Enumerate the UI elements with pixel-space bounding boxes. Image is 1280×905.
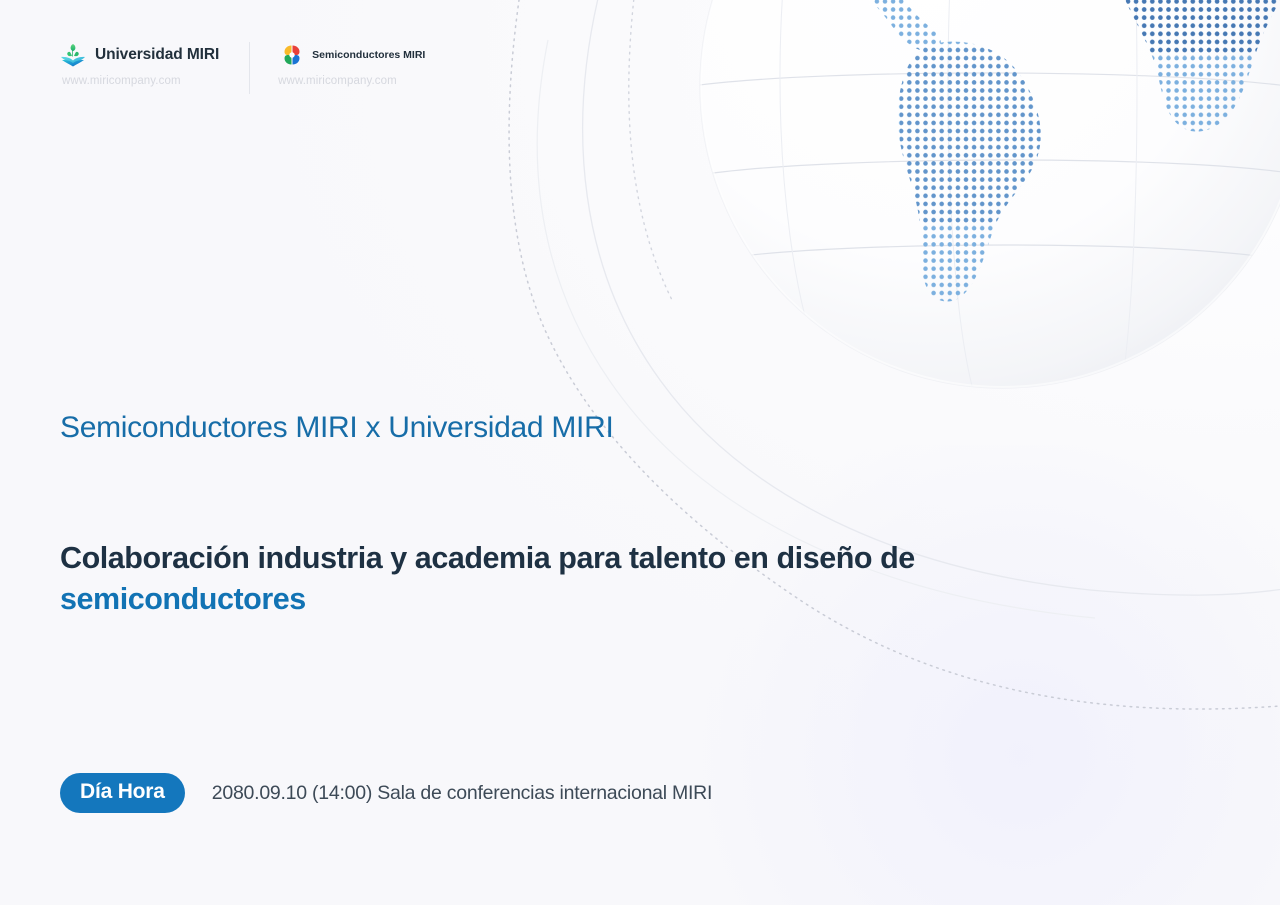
semiconductor-pinwheel-logo-icon [281,44,303,66]
university-sprout-logo-icon [60,43,86,67]
background-wash [640,445,1280,905]
brand-divider [249,42,250,94]
brand-header: Universidad MIRI www.miricompany.com Sem… [60,42,425,94]
status-badge: Día Hora [60,773,185,813]
brand-universidad-name: Universidad MIRI [95,46,219,64]
brand-semiconductores-row: Semiconductores MIRI [278,42,425,68]
headline-line-1: Colaboración industria y academia para t… [60,541,915,575]
brand-universidad-url[interactable]: www.miricompany.com [60,75,219,87]
headline-line-2: semiconductores [60,582,306,616]
brand-universidad-row: Universidad MIRI [60,42,219,68]
dotted-world-globe-icon [672,0,1280,416]
orbit-arcs-decoration [0,0,1280,905]
brand-semiconductores-name: Semiconductores MIRI [312,49,425,61]
globe-graphic [672,0,1280,416]
date-venue-bar: Día Hora 2080.09.10 (14:00) Sala de conf… [60,773,712,813]
brand-semiconductores: Semiconductores MIRI www.miricompany.com [278,42,425,87]
brand-universidad: Universidad MIRI www.miricompany.com [60,42,219,87]
page-title: Colaboración industria y academia para t… [60,538,1040,620]
brand-semiconductores-url[interactable]: www.miricompany.com [278,75,425,87]
presentation-slide: Universidad MIRI www.miricompany.com Sem… [0,0,1280,905]
partnership-eyebrow: Semiconductores MIRI x Universidad MIRI [60,411,613,445]
date-venue-text: 2080.09.10 (14:00) Sala de conferencias … [212,782,712,805]
